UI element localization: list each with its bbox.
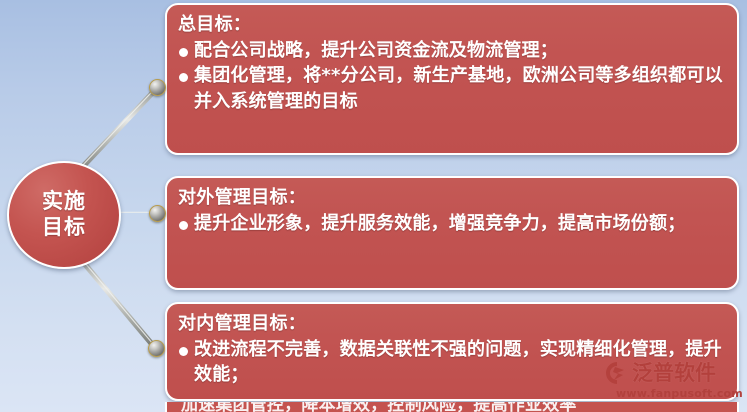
implementation-goal-node[interactable]: 实施 目标 — [7, 161, 121, 269]
card-title: 对内管理目标： — [178, 311, 727, 337]
bullet-list: 改进流程不完善，数据关联性不强的问题，实现精细化管理，提升效能； — [178, 337, 727, 389]
card-external-management-goal[interactable]: 对外管理目标： 提升企业形象，提升服务效能，增强竞争力，提高市场份额； — [165, 176, 739, 290]
list-item: 集团化管理，将**分公司，新生产基地，欧洲公司等多组织都可以并入系统管理的目标 — [178, 63, 727, 115]
slide-canvas: 实施 目标 总目标： 配合公司战略，提升公司资金流及物流管理； 集团化管理，将*… — [0, 0, 747, 412]
card-title: 对外管理目标： — [178, 185, 727, 211]
connector-joint-overall-goal — [149, 79, 166, 96]
bullet-list: 提升企业形象，提升服务效能，增强竞争力，提高市场份额； — [178, 211, 727, 237]
clipped-next-card: 加速集团管控，降本增效，控制风险，提高作业效率 — [165, 402, 739, 412]
list-item: 配合公司战略，提升公司资金流及物流管理； — [178, 38, 727, 64]
hub-label-line-1: 实施 — [42, 189, 86, 215]
hub-label-line-2: 目标 — [42, 215, 86, 241]
card-internal-management-goal[interactable]: 对内管理目标： 改进流程不完善，数据关联性不强的问题，实现精细化管理，提升效能； — [165, 302, 739, 401]
clipped-card-text: 加速集团管控，降本增效，控制风险，提高作业效率 — [165, 402, 739, 412]
card-title: 总目标： — [178, 12, 727, 38]
connector-joint-internal-goal — [148, 340, 165, 357]
connector-joint-external-goal — [149, 205, 166, 222]
list-item: 提升企业形象，提升服务效能，增强竞争力，提高市场份额； — [178, 211, 727, 237]
card-overall-goal[interactable]: 总目标： 配合公司战略，提升公司资金流及物流管理； 集团化管理，将**分公司，新… — [165, 3, 739, 155]
list-item: 改进流程不完善，数据关联性不强的问题，实现精细化管理，提升效能； — [178, 337, 727, 389]
wire-to-internal-goal — [78, 256, 156, 349]
bullet-list: 配合公司战略，提升公司资金流及物流管理； 集团化管理，将**分公司，新生产基地，… — [178, 38, 727, 116]
